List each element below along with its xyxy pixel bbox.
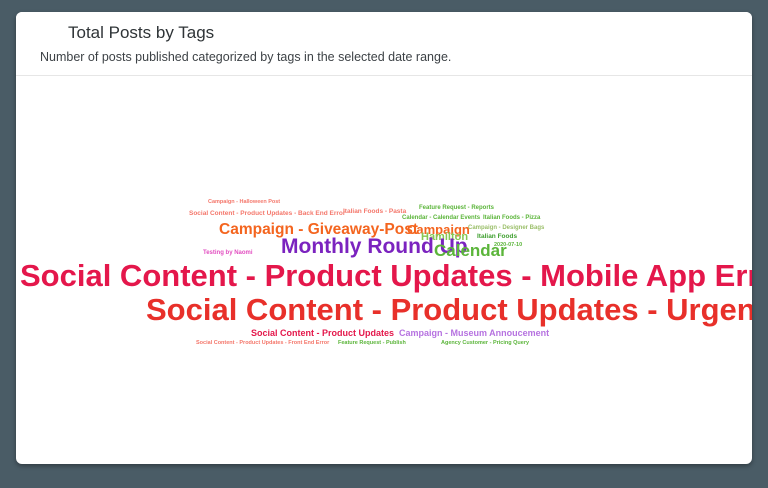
chart-subtitle: Number of posts published categorized by… bbox=[40, 50, 738, 65]
word-cloud-tag[interactable]: Calendar - Calendar Events bbox=[402, 215, 480, 221]
chart-card: Total Posts by Tags Number of posts publ… bbox=[16, 12, 752, 464]
word-cloud-tag[interactable]: Social Content - Product Updates - Urgen… bbox=[146, 294, 752, 325]
word-cloud-tag[interactable]: Social Content - Product Updates - Front… bbox=[196, 341, 329, 347]
word-cloud-tag[interactable]: 2020-07-10 bbox=[494, 243, 522, 249]
word-cloud: Campaign - Halloween PostSocial Content … bbox=[16, 76, 752, 464]
word-cloud-tag[interactable]: Social Content - Product Updates - Mobil… bbox=[20, 260, 752, 291]
card-header: Total Posts by Tags Number of posts publ… bbox=[16, 12, 752, 76]
page-title: Total Posts by Tags bbox=[68, 24, 738, 43]
word-cloud-tag[interactable]: Agency Customer - Pricing Query bbox=[441, 341, 529, 347]
word-cloud-tag[interactable]: Testing by Naomi bbox=[203, 250, 253, 256]
word-cloud-tag[interactable]: Campaign - Designer Bags bbox=[468, 225, 544, 231]
word-cloud-tag[interactable]: Feature Request - Reports bbox=[419, 205, 494, 211]
word-cloud-tag[interactable]: Feature Request - Publish bbox=[338, 341, 406, 347]
word-cloud-tag[interactable]: Campaign - Museum Annoucement bbox=[399, 329, 549, 338]
word-cloud-tag[interactable]: Italian Foods - Pasta bbox=[343, 209, 406, 216]
word-cloud-tag[interactable]: Italian Foods bbox=[477, 234, 517, 241]
word-cloud-tag[interactable]: Social Content - Product Updates - Back … bbox=[189, 211, 345, 218]
word-cloud-tag[interactable]: Social Content - Product Updates bbox=[251, 329, 394, 338]
word-cloud-tag[interactable]: Campaign - Halloween Post bbox=[208, 200, 280, 206]
word-cloud-tag[interactable]: Italian Foods - Pizza bbox=[483, 215, 540, 221]
